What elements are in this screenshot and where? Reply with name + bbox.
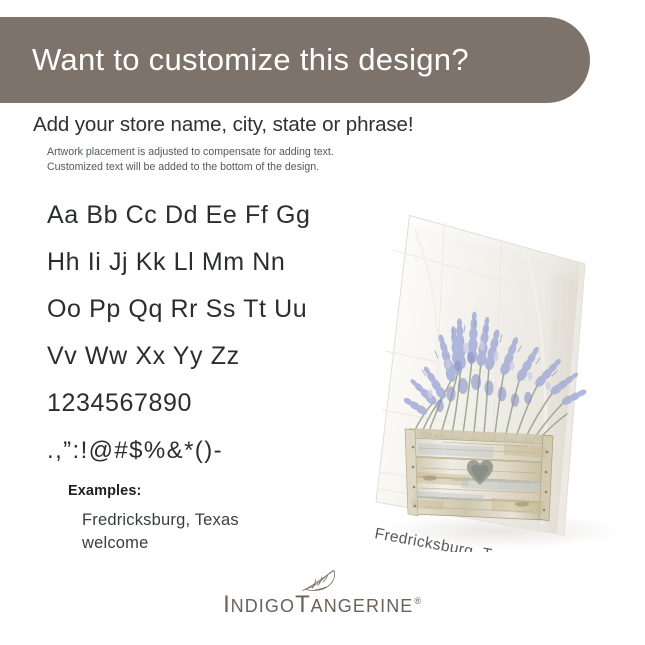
tea-towel-illustration: Fredricksburg, Texas bbox=[352, 186, 645, 552]
wooden-crate bbox=[405, 428, 553, 521]
brand-logo: I NDIGO T ANGERINE ® bbox=[0, 568, 645, 617]
logo-wordmark: I NDIGO T ANGERINE ® bbox=[223, 593, 422, 617]
specimen-row-uppercase-h-n: Hh Ii Jj Kk Ll Mm Nn bbox=[47, 239, 387, 286]
registered-trademark-icon: ® bbox=[414, 597, 421, 606]
header-banner: Want to customize this design? bbox=[0, 17, 590, 103]
examples-block: Examples: Fredricksburg, Texas welcome bbox=[68, 483, 239, 555]
examples-list: Fredricksburg, Texas welcome bbox=[82, 509, 239, 555]
page-title: Want to customize this design? bbox=[32, 42, 469, 78]
example-item-city-state: Fredricksburg, Texas bbox=[82, 509, 239, 532]
example-item-welcome: welcome bbox=[82, 532, 239, 555]
intro-note: Artwork placement is adjusted to compens… bbox=[47, 145, 463, 176]
logo-text-indigo: NDIGO bbox=[231, 597, 296, 615]
font-specimen: Aa Bb Cc Dd Ee Ff Gg Hh Ii Jj Kk Ll Mm N… bbox=[47, 192, 387, 474]
leaf-icon bbox=[302, 568, 340, 592]
intro-note-line-1: Artwork placement is adjusted to compens… bbox=[47, 145, 463, 160]
specimen-row-uppercase-a-g: Aa Bb Cc Dd Ee Ff Gg bbox=[47, 192, 387, 239]
logo-letter-i: I bbox=[223, 593, 230, 617]
product-image-tea-towel: Fredricksburg, Texas bbox=[352, 186, 645, 552]
intro-note-line-2: Customized text will be added to the bot… bbox=[47, 160, 463, 175]
logo-text-tangerine: ANGERINE bbox=[311, 597, 414, 615]
intro-heading: Add your store name, city, state or phra… bbox=[33, 112, 463, 138]
specimen-row-numerals: 1234567890 bbox=[47, 380, 387, 427]
page-root: Want to customize this design? Add your … bbox=[0, 0, 645, 645]
specimen-row-uppercase-v-z: Vv Ww Xx Yy Zz bbox=[47, 333, 387, 380]
specimen-row-uppercase-o-u: Oo Pp Qq Rr Ss Tt Uu bbox=[47, 286, 387, 333]
logo-letter-t: T bbox=[295, 593, 310, 617]
examples-title: Examples: bbox=[68, 483, 239, 499]
intro-block: Add your store name, city, state or phra… bbox=[33, 112, 463, 175]
specimen-row-punctuation: .,”:!@#$%&*()- bbox=[47, 427, 387, 474]
